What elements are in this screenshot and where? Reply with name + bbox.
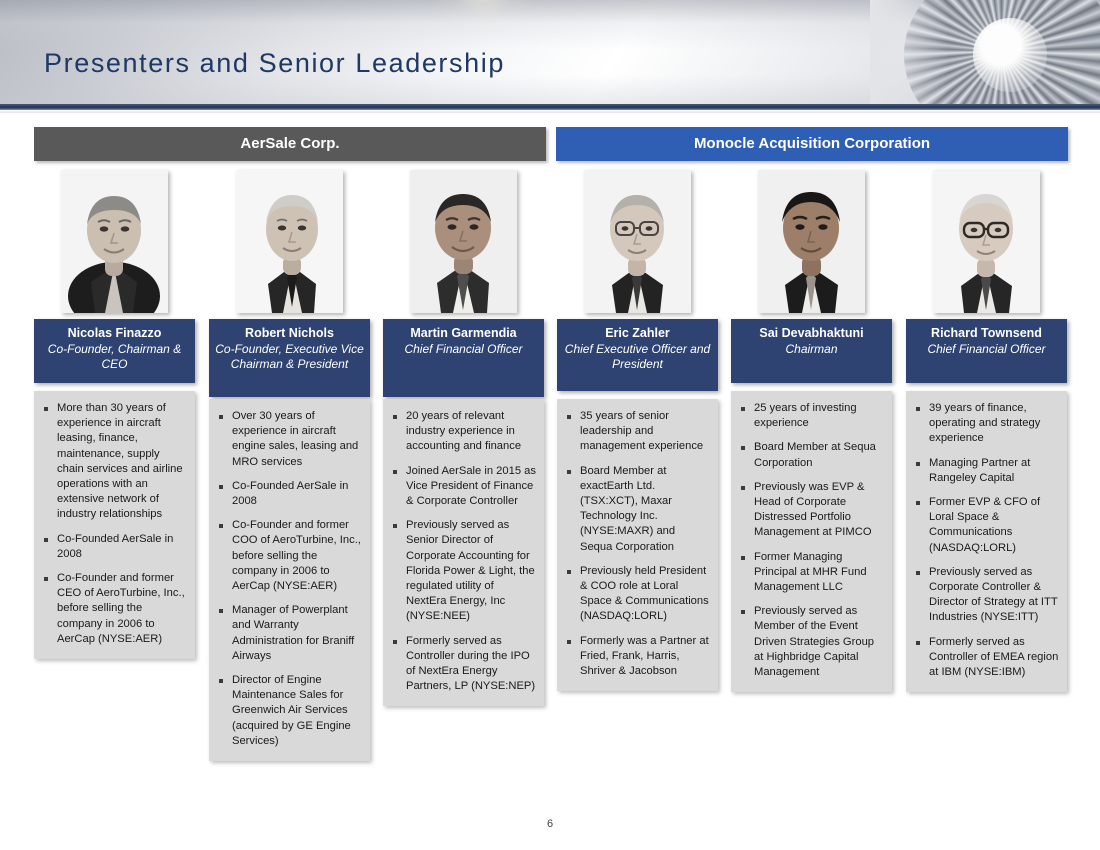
nameplate: Sai Devabhaktuni Chairman bbox=[731, 319, 892, 383]
bio-panel: 25 years of investing experience Board M… bbox=[731, 391, 892, 692]
bio-bullet: 39 years of finance, operating and strat… bbox=[912, 401, 1059, 447]
person-title: Co-Founder, Chairman & CEO bbox=[40, 342, 189, 372]
person-name: Sai Devabhaktuni bbox=[737, 326, 886, 341]
bio-list: 25 years of investing experience Board M… bbox=[737, 401, 884, 680]
bio-list: 39 years of finance, operating and strat… bbox=[912, 401, 1059, 680]
bio-bullet: Managing Partner at Rangeley Capital bbox=[912, 456, 1059, 486]
nameplate: Nicolas Finazzo Co-Founder, Chairman & C… bbox=[34, 319, 195, 383]
engine-fade-mask bbox=[870, 0, 1100, 104]
bio-panel: More than 30 years of experience in airc… bbox=[34, 391, 195, 659]
bio-bullet: 20 years of relevant industry experience… bbox=[389, 409, 536, 455]
bio-panel: 35 years of senior leadership and manage… bbox=[557, 399, 718, 691]
portrait-illustration bbox=[61, 170, 168, 313]
bio-bullet: Formerly was a Partner at Fried, Frank, … bbox=[563, 634, 710, 680]
bio-bullet: Formerly served as Controller of EMEA re… bbox=[912, 635, 1059, 681]
section-header-aersale: AerSale Corp. bbox=[34, 127, 546, 161]
person-name: Eric Zahler bbox=[563, 326, 712, 341]
bio-bullet: Co-Founder and former COO of AeroTurbine… bbox=[215, 518, 362, 594]
bio-bullet: Previously served as Senior Director of … bbox=[389, 518, 536, 624]
bio-bullet: Joined AerSale in 2015 as Vice President… bbox=[389, 464, 536, 510]
bio-bullet: Over 30 years of experience in aircraft … bbox=[215, 409, 362, 470]
person-card-sai-devabhaktuni: Sai Devabhaktuni Chairman 25 years of in… bbox=[731, 170, 892, 692]
person-title: Chief Executive Officer and President bbox=[563, 342, 712, 372]
bio-bullet: Co-Founder and former CEO of AeroTurbine… bbox=[40, 571, 187, 647]
nameplate: Robert Nichols Co-Founder, Executive Vic… bbox=[209, 319, 370, 397]
person-title: Chief Financial Officer bbox=[389, 342, 538, 357]
headshot-photo bbox=[933, 170, 1040, 313]
bio-bullet: Previously was EVP & Head of Corporate D… bbox=[737, 480, 884, 541]
bio-bullet: 25 years of investing experience bbox=[737, 401, 884, 431]
bio-bullet: 35 years of senior leadership and manage… bbox=[563, 409, 710, 455]
bio-bullet: Former EVP & CFO of Loral Space & Commun… bbox=[912, 495, 1059, 556]
portrait-illustration bbox=[933, 170, 1040, 313]
bio-bullet: More than 30 years of experience in airc… bbox=[40, 401, 187, 523]
person-card-eric-zahler: Eric Zahler Chief Executive Officer and … bbox=[557, 170, 718, 691]
portrait-illustration bbox=[758, 170, 865, 313]
slide-header: Presenters and Senior Leadership bbox=[0, 0, 1100, 104]
page-number: 6 bbox=[0, 818, 1100, 830]
headshot-photo bbox=[410, 170, 517, 313]
bio-panel: Over 30 years of experience in aircraft … bbox=[209, 399, 370, 761]
person-name: Nicolas Finazzo bbox=[40, 326, 189, 341]
bio-bullet: Manager of Powerplant and Warranty Admin… bbox=[215, 603, 362, 664]
bio-bullet: Co-Founded AerSale in 2008 bbox=[40, 532, 187, 562]
bio-list: 35 years of senior leadership and manage… bbox=[563, 409, 710, 679]
page-title: Presenters and Senior Leadership bbox=[44, 48, 505, 79]
bio-bullet: Former Managing Principal at MHR Fund Ma… bbox=[737, 550, 884, 596]
person-name: Richard Townsend bbox=[912, 326, 1061, 341]
bio-bullet: Director of Engine Maintenance Sales for… bbox=[215, 673, 362, 749]
bio-bullet: Co-Founded AerSale in 2008 bbox=[215, 479, 362, 509]
bio-bullet: Previously served as Member of the Event… bbox=[737, 604, 884, 680]
bio-list: Over 30 years of experience in aircraft … bbox=[215, 409, 362, 749]
section-header-monocle: Monocle Acquisition Corporation bbox=[556, 127, 1068, 161]
header-divider-highlight bbox=[0, 110, 1100, 113]
bio-list: 20 years of relevant industry experience… bbox=[389, 409, 536, 694]
bio-list: More than 30 years of experience in airc… bbox=[40, 401, 187, 647]
bio-bullet: Board Member at exactEarth Ltd. (TSX:XCT… bbox=[563, 464, 710, 555]
nameplate: Richard Townsend Chief Financial Officer bbox=[906, 319, 1067, 383]
person-card-robert-nichols: Robert Nichols Co-Founder, Executive Vic… bbox=[209, 170, 370, 761]
headshot-photo bbox=[236, 170, 343, 313]
headshot-photo bbox=[758, 170, 865, 313]
bio-bullet: Previously served as Corporate Controlle… bbox=[912, 565, 1059, 626]
headshot-photo bbox=[61, 170, 168, 313]
nameplate: Martin Garmendia Chief Financial Officer bbox=[383, 319, 544, 397]
portrait-illustration bbox=[410, 170, 517, 313]
bio-bullet: Board Member at Sequa Corporation bbox=[737, 440, 884, 470]
portrait-illustration bbox=[236, 170, 343, 313]
person-name: Robert Nichols bbox=[215, 326, 364, 341]
person-title: Co-Founder, Executive Vice Chairman & Pr… bbox=[215, 342, 364, 372]
bio-panel: 39 years of finance, operating and strat… bbox=[906, 391, 1067, 692]
person-name: Martin Garmendia bbox=[389, 326, 538, 341]
person-title: Chairman bbox=[737, 342, 886, 357]
bio-panel: 20 years of relevant industry experience… bbox=[383, 399, 544, 706]
person-card-nicolas-finazzo: Nicolas Finazzo Co-Founder, Chairman & C… bbox=[34, 170, 195, 659]
bio-bullet: Formerly served as Controller during the… bbox=[389, 634, 536, 695]
person-card-richard-townsend: Richard Townsend Chief Financial Officer… bbox=[906, 170, 1067, 692]
person-card-martin-garmendia: Martin Garmendia Chief Financial Officer… bbox=[383, 170, 544, 706]
headshot-photo bbox=[584, 170, 691, 313]
person-title: Chief Financial Officer bbox=[912, 342, 1061, 357]
portrait-illustration bbox=[584, 170, 691, 313]
nameplate: Eric Zahler Chief Executive Officer and … bbox=[557, 319, 718, 391]
bio-bullet: Previously held President & COO role at … bbox=[563, 564, 710, 625]
